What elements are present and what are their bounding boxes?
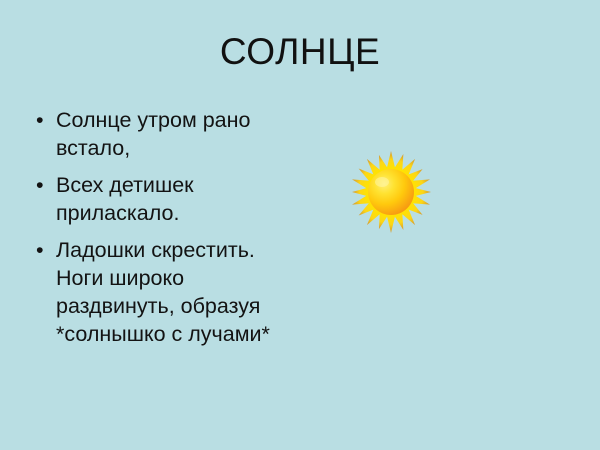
list-item-line: Ноги широко: [56, 264, 331, 292]
list-item-line: раздвинуть, образуя: [56, 292, 331, 320]
list-item-line: Всех детишек: [56, 171, 331, 199]
list-item-line: Ладошки скрестить.: [56, 236, 331, 264]
sun-illustration: [349, 150, 433, 234]
list-item-line: встало,: [56, 134, 331, 162]
page-title: СОЛНЦЕ: [0, 30, 600, 74]
list-item-line: приласкало.: [56, 199, 331, 227]
list-item: • Солнце утром рано встало,: [31, 106, 331, 162]
sun-rays-group: [351, 151, 432, 233]
list-item-line: *солнышко с лучами*: [56, 320, 331, 348]
bullet-marker-icon: •: [36, 106, 50, 134]
list-item: • Всех детишек приласкало.: [31, 171, 331, 227]
bullet-list: • Солнце утром рано встало, • Всех детиш…: [31, 106, 331, 348]
sun-core: [368, 169, 414, 215]
list-item-line: Солнце утром рано: [56, 106, 331, 134]
list-item: • Ладошки скрестить. Ноги широко раздвин…: [31, 236, 331, 348]
bullet-marker-icon: •: [36, 236, 50, 264]
bullet-marker-icon: •: [36, 171, 50, 199]
slide-canvas: СОЛНЦЕ • Солнце утром рано встало, • Все…: [0, 0, 600, 450]
sun-highlight: [375, 177, 389, 187]
sun-icon: [349, 150, 433, 234]
